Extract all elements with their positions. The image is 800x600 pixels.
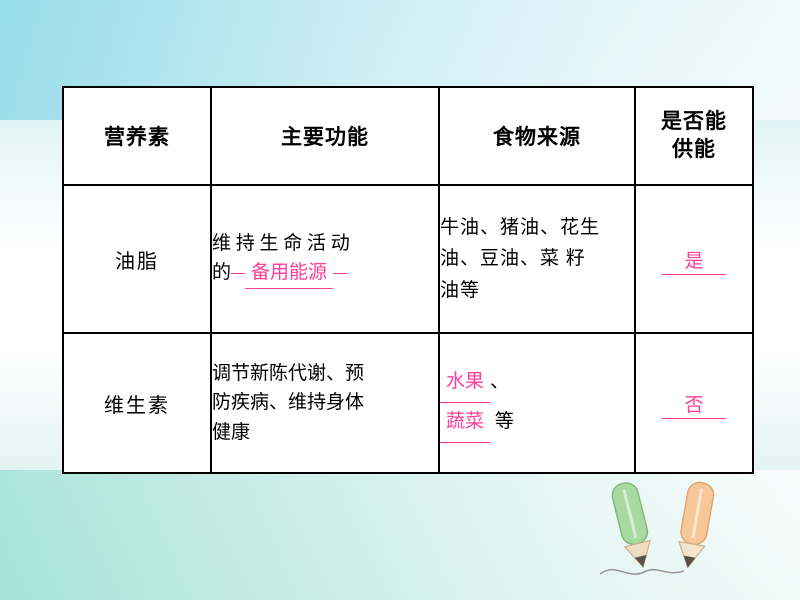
- header-function: 主要功能: [211, 87, 439, 185]
- nutrient-table-container: 营养素 主要功能 食物来源 是否能 供能 油脂 维 持 生 命 活 动: [62, 86, 752, 474]
- row-oil-energy: 是: [635, 185, 753, 333]
- pencil-decoration: [594, 476, 744, 586]
- row-vitamin-energy-answer[interactable]: 否: [662, 395, 725, 419]
- row-vitamin-source-blank-1[interactable]: 水果: [440, 363, 490, 403]
- row-oil-source: 牛油、猪油、花生 油、豆油、菜 籽 油等: [439, 185, 635, 333]
- header-can-supply-energy: 是否能 供能: [635, 87, 753, 185]
- blank-underline-tail: [333, 272, 347, 274]
- row-oil-function-blank[interactable]: 备用能源: [245, 258, 333, 289]
- row-oil-energy-answer[interactable]: 是: [662, 251, 725, 275]
- row-oil-function: 维 持 生 命 活 动 的备用能源: [211, 185, 439, 333]
- row-vitamin-source-line2: 蔬菜 等: [440, 403, 634, 443]
- header-can-supply-energy-line1: 是否能: [636, 108, 752, 136]
- row-oil-name: 油脂: [63, 185, 211, 333]
- pencil-green-icon: [610, 480, 656, 570]
- row-vitamin-name: 维生素: [63, 333, 211, 473]
- table-header-row: 营养素 主要功能 食物来源 是否能 供能: [63, 87, 753, 185]
- table-row: 维生素 调节新陈代谢、预 防疾病、维持身体 健康 水果、 蔬菜 等: [63, 333, 753, 473]
- row-vitamin-source-separator: 、: [490, 371, 509, 392]
- row-oil-source-line2: 油、豆油、菜 籽: [440, 243, 634, 274]
- squiggle-line: [600, 570, 684, 574]
- row-vitamin-source-blank-2[interactable]: 蔬菜: [440, 403, 490, 443]
- row-vitamin-energy: 否: [635, 333, 753, 473]
- header-nutrient: 营养素: [63, 87, 211, 185]
- row-vitamin-function-line2: 防疾病、维持身体: [212, 388, 438, 417]
- row-oil-function-prefix: 的: [212, 262, 231, 283]
- row-vitamin-source-suffix: 等: [495, 411, 514, 432]
- row-vitamin-source-line1: 水果、: [440, 363, 634, 403]
- pencil-orange-icon: [675, 481, 716, 570]
- row-oil-source-line3: 油等: [440, 275, 634, 306]
- row-oil-source-line1: 牛油、猪油、花生: [440, 212, 634, 243]
- row-oil-function-line1: 维 持 生 命 活 动: [212, 229, 438, 258]
- row-vitamin-source: 水果、 蔬菜 等: [439, 333, 635, 473]
- header-food-source: 食物来源: [439, 87, 635, 185]
- nutrient-table: 营养素 主要功能 食物来源 是否能 供能 油脂 维 持 生 命 活 动: [62, 86, 754, 474]
- row-vitamin-function-line1: 调节新陈代谢、预: [212, 359, 438, 388]
- slide-canvas: 营养素 主要功能 食物来源 是否能 供能 油脂 维 持 生 命 活 动: [0, 0, 800, 600]
- header-can-supply-energy-line2: 供能: [636, 136, 752, 164]
- row-vitamin-function: 调节新陈代谢、预 防疾病、维持身体 健康: [211, 333, 439, 473]
- row-oil-function-line2: 的备用能源: [212, 258, 438, 289]
- blank-underline-lead: [231, 272, 245, 274]
- row-vitamin-function-line3: 健康: [212, 418, 438, 447]
- table-row: 油脂 维 持 生 命 活 动 的备用能源 牛油、猪油、花生 油、豆油、菜 籽 油…: [63, 185, 753, 333]
